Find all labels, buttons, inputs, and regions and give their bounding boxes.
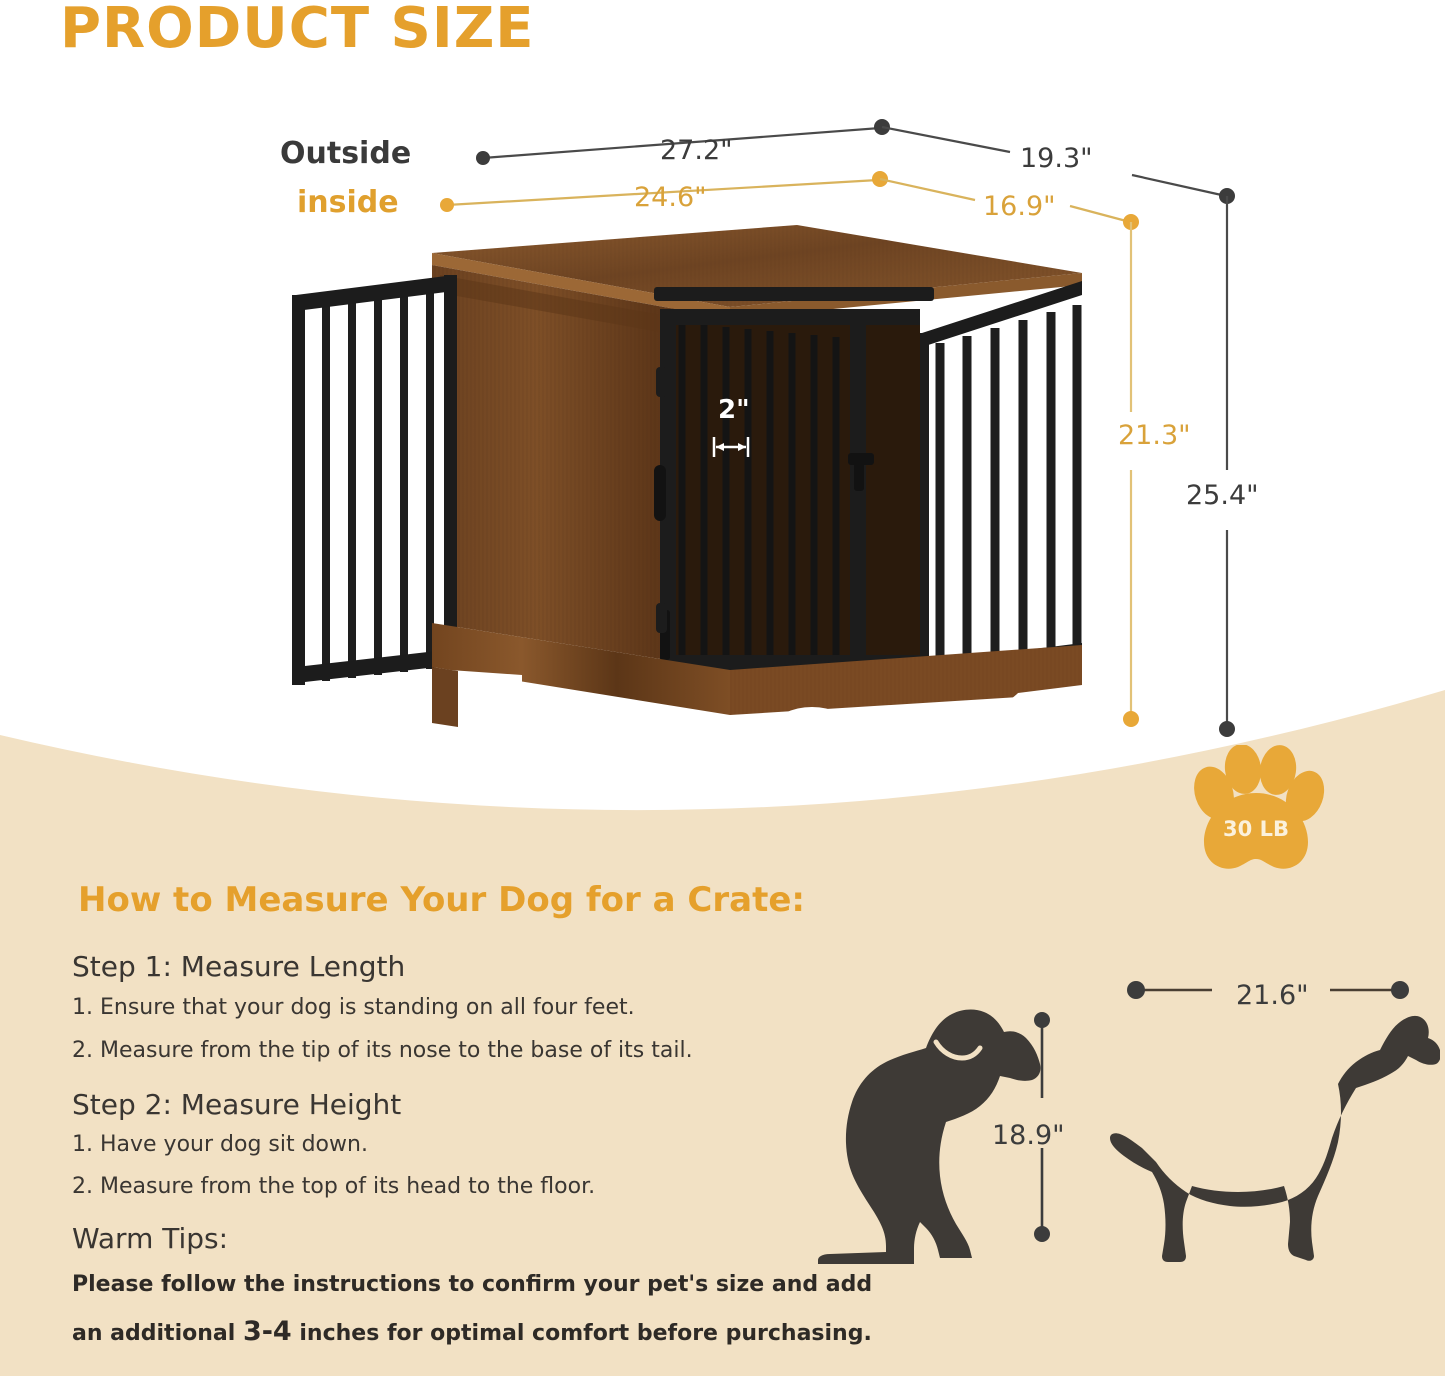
dimension-inside-width: 24.6" [634, 182, 707, 213]
step2-heading: Step 2: Measure Height [72, 1088, 401, 1121]
step2-line2: 2. Measure from the top of its head to t… [72, 1174, 595, 1199]
step1-line2: 2. Measure from the tip of its nose to t… [72, 1038, 693, 1063]
step1-line1: 1. Ensure that your dog is standing on a… [72, 995, 635, 1020]
dog-measurement-diagram [790, 960, 1440, 1270]
warm-tips-line2: an additional 3-4 inches for optimal com… [72, 1316, 872, 1347]
dimension-outside-height: 25.4" [1186, 480, 1259, 511]
dog-crate-illustration [282, 215, 1082, 745]
warm-tips-line2-prefix: an additional [72, 1321, 243, 1346]
dog-length-label: 21.6" [1236, 980, 1309, 1011]
weight-capacity-paw-icon: 30 LB [1186, 745, 1326, 880]
warm-tips-line1: Please follow the instructions to confir… [72, 1272, 872, 1297]
step2-line1: 1. Have your dog sit down. [72, 1132, 368, 1157]
warm-tips-emphasis: 3-4 [243, 1316, 292, 1347]
warm-tips-heading: Warm Tips: [72, 1222, 228, 1255]
bar-spacing-label: 2" [718, 395, 750, 425]
legend-outside-label: Outside [280, 136, 411, 171]
step1-heading: Step 1: Measure Length [72, 950, 405, 983]
warm-tips-line2-suffix: inches for optimal comfort before purcha… [292, 1321, 872, 1346]
dimension-outside-depth: 19.3" [1020, 143, 1093, 174]
dimension-outside-width: 27.2" [660, 135, 733, 166]
howto-heading: How to Measure Your Dog for a Crate: [78, 880, 805, 920]
weight-capacity-label: 30 LB [1186, 817, 1326, 841]
standing-dog-silhouette [1110, 1016, 1440, 1262]
dog-height-label: 18.9" [992, 1120, 1065, 1151]
dimension-inside-height: 21.3" [1118, 420, 1191, 451]
page-title: PRODUCT SIZE [60, 0, 535, 61]
